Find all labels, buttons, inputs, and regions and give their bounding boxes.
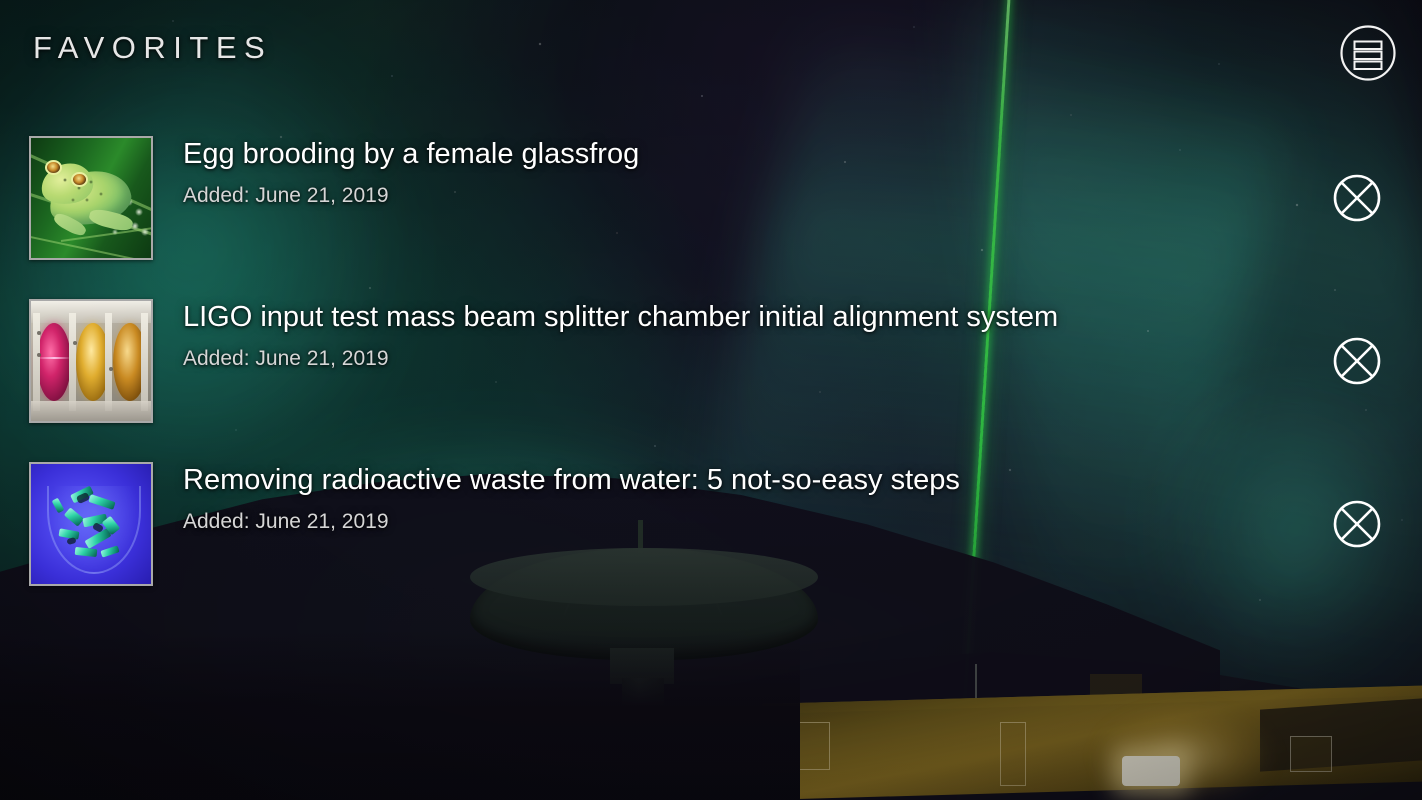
favorite-row[interactable]: Removing radioactive waste from water: 5…	[0, 444, 1422, 607]
ui-layer: FAVORITES	[0, 0, 1422, 800]
favorite-thumbnail[interactable]	[29, 136, 153, 260]
circled-x-icon	[1333, 500, 1381, 548]
favorite-thumbnail[interactable]	[29, 462, 153, 586]
favorite-row[interactable]: Egg brooding by a female glassfrog Added…	[0, 118, 1422, 281]
favorite-added-date: Added: June 21, 2019	[183, 347, 1422, 371]
menu-button[interactable]	[1339, 24, 1397, 82]
favorites-list: Egg brooding by a female glassfrog Added…	[0, 118, 1422, 607]
favorite-text: LIGO input test mass beam splitter chamb…	[183, 281, 1422, 371]
remove-favorite-button[interactable]	[1333, 337, 1381, 385]
favorite-added-date: Added: June 21, 2019	[183, 510, 1422, 534]
favorites-screen: FAVORITES	[0, 0, 1422, 800]
circled-x-icon	[1333, 337, 1381, 385]
favorite-title[interactable]: Egg brooding by a female glassfrog	[183, 139, 1422, 171]
favorite-title[interactable]: Removing radioactive waste from water: 5…	[183, 465, 1422, 497]
remove-favorite-button[interactable]	[1333, 174, 1381, 222]
favorite-row[interactable]: LIGO input test mass beam splitter chamb…	[0, 281, 1422, 444]
favorite-text: Removing radioactive waste from water: 5…	[183, 444, 1422, 534]
favorite-added-date: Added: June 21, 2019	[183, 184, 1422, 208]
glassfrog-on-leaf-thumbnail	[31, 138, 151, 258]
ligo-chamber-thumbnail	[31, 301, 151, 421]
blue-fluorescence-thumbnail	[31, 464, 151, 584]
remove-favorite-button[interactable]	[1333, 500, 1381, 548]
favorite-thumbnail[interactable]	[29, 299, 153, 423]
circled-x-icon	[1333, 174, 1381, 222]
hamburger-menu-icon	[1339, 24, 1397, 82]
favorite-title[interactable]: LIGO input test mass beam splitter chamb…	[183, 302, 1422, 334]
favorite-text: Egg brooding by a female glassfrog Added…	[183, 118, 1422, 208]
page-title: FAVORITES	[33, 30, 272, 66]
